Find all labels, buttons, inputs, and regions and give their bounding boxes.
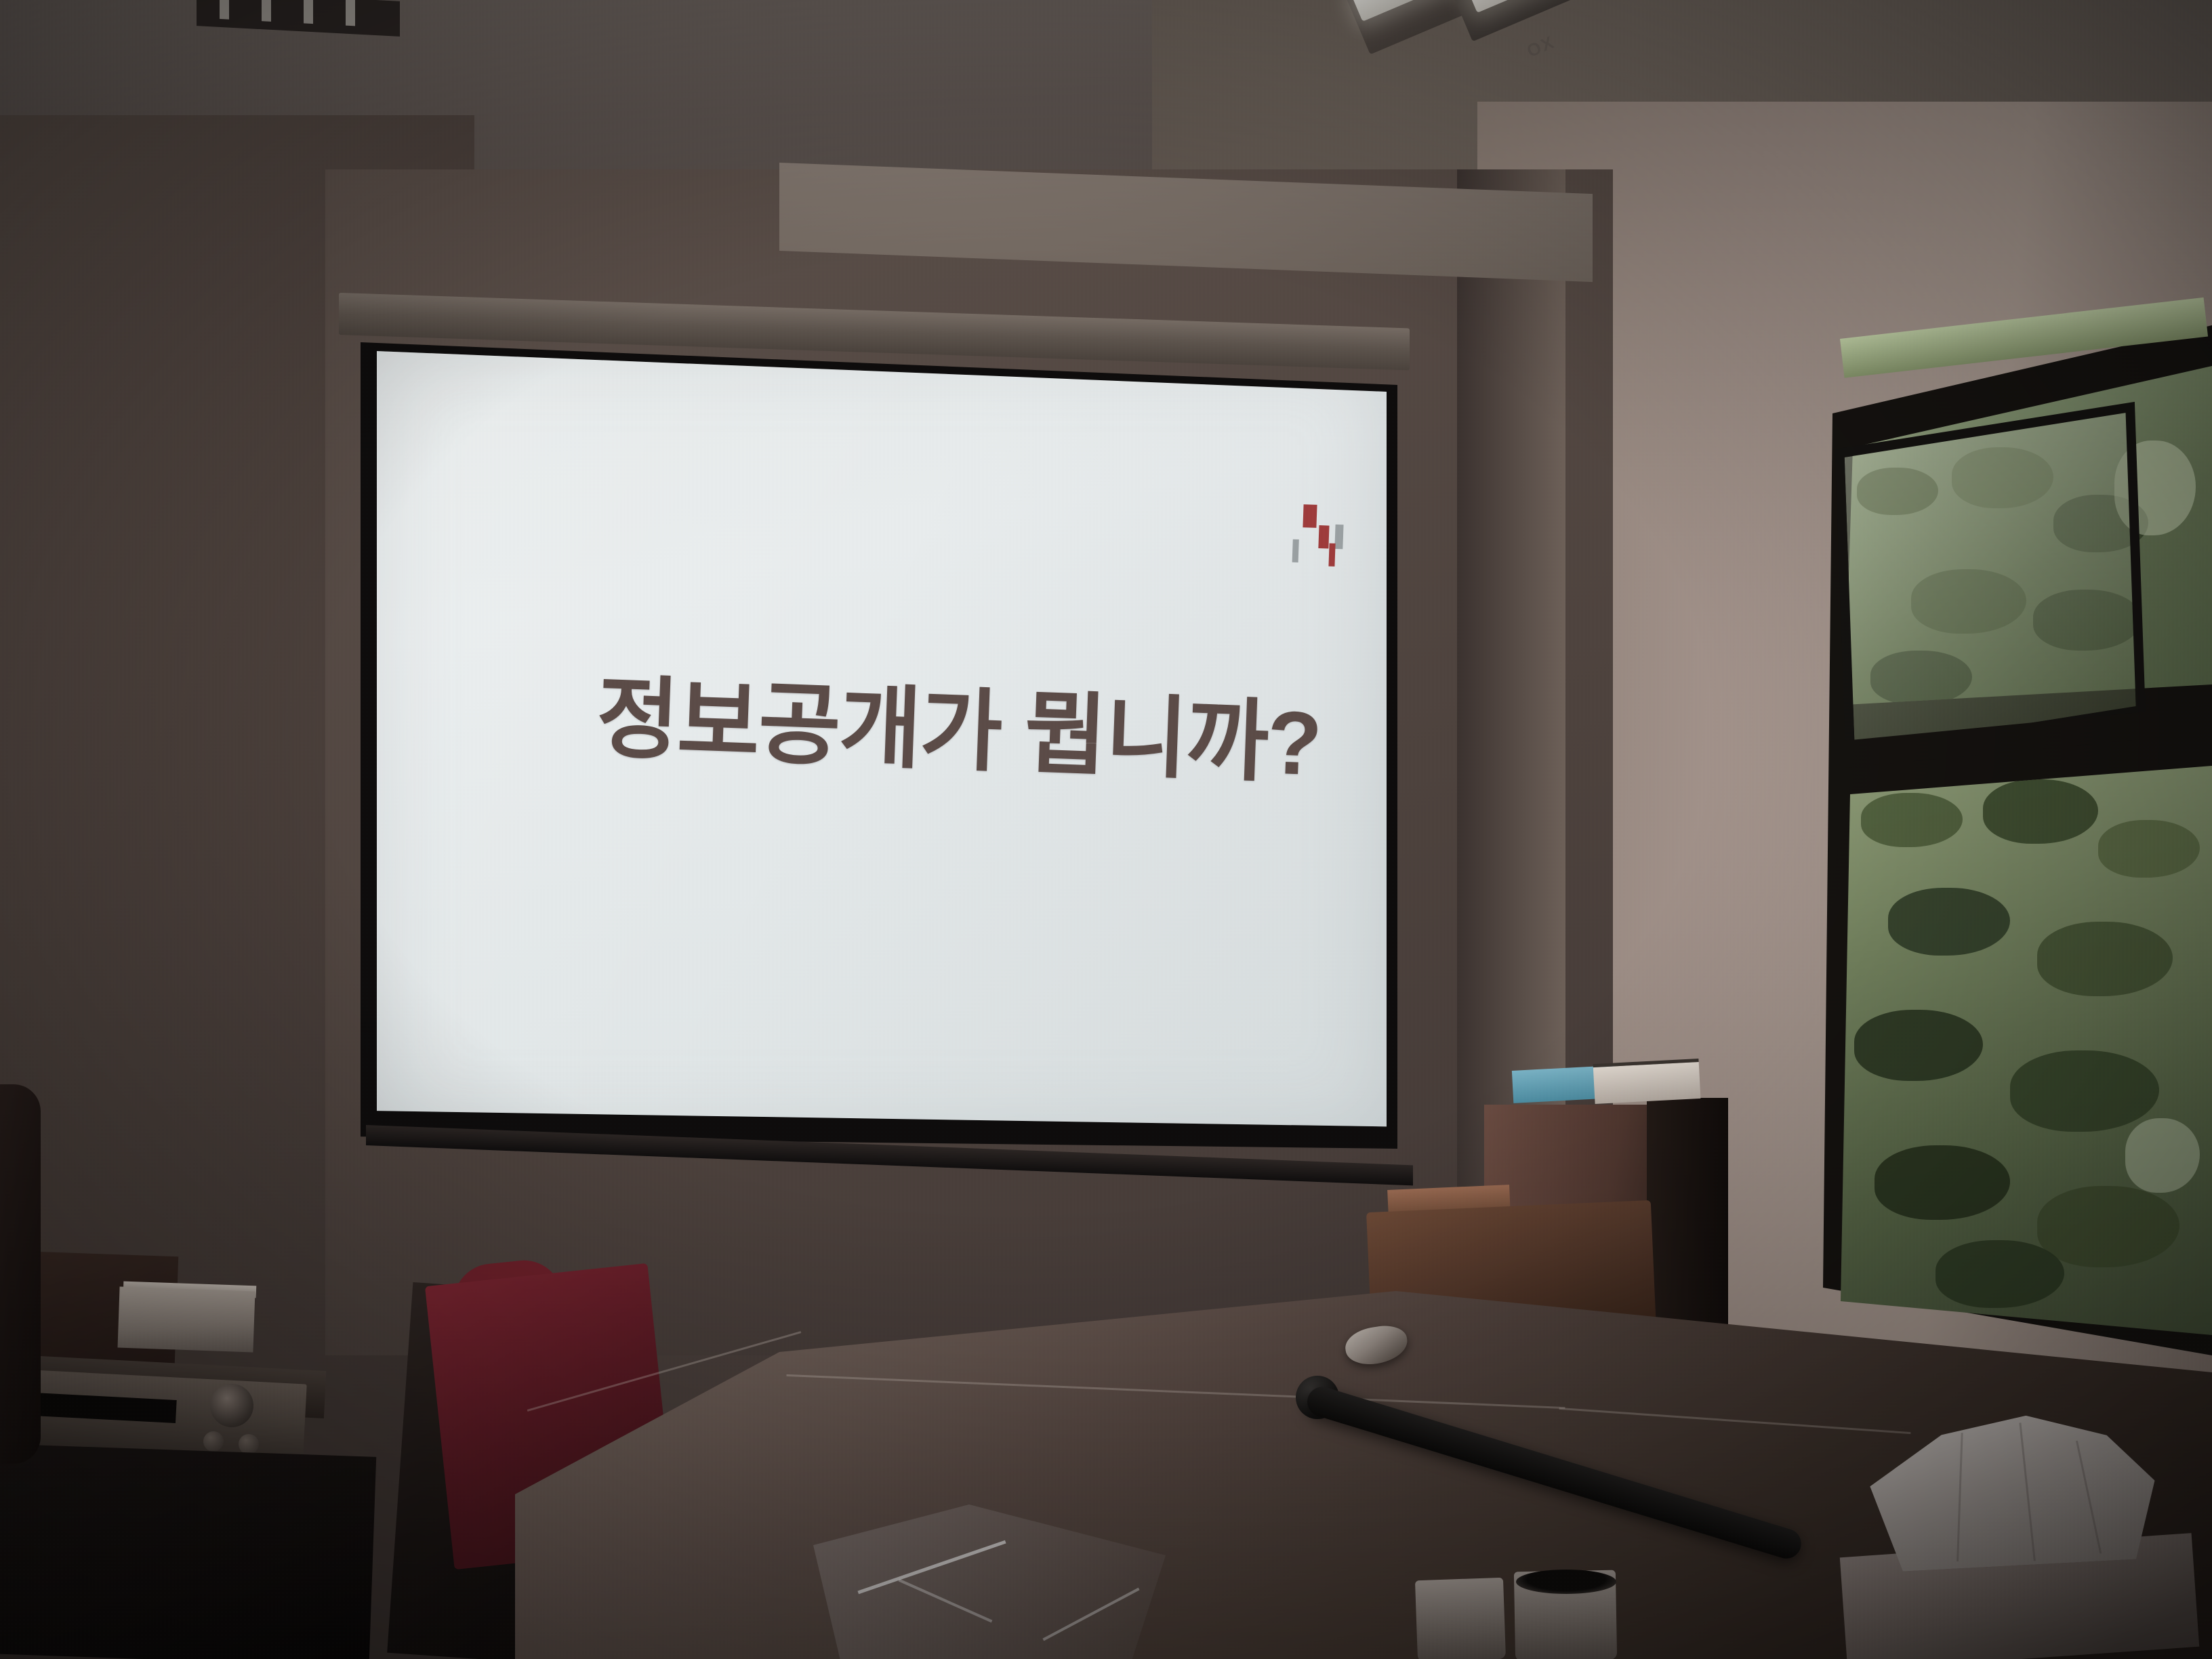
side-cabinet-shadow [1647,1098,1728,1342]
person-silhouette [0,1084,41,1464]
paper-cup-1[interactable] [1415,1578,1506,1659]
paper-cup-rim [1516,1570,1616,1594]
white-equipment-box [117,1287,255,1353]
window-awning-pane[interactable] [1835,402,2146,762]
av-equipment-stand [0,1443,376,1659]
window-pane-lower [1834,766,2212,1349]
room-photo: OX 정보공개가 뭡니까? [0,0,2212,1659]
presentation-logo [1286,504,1349,567]
